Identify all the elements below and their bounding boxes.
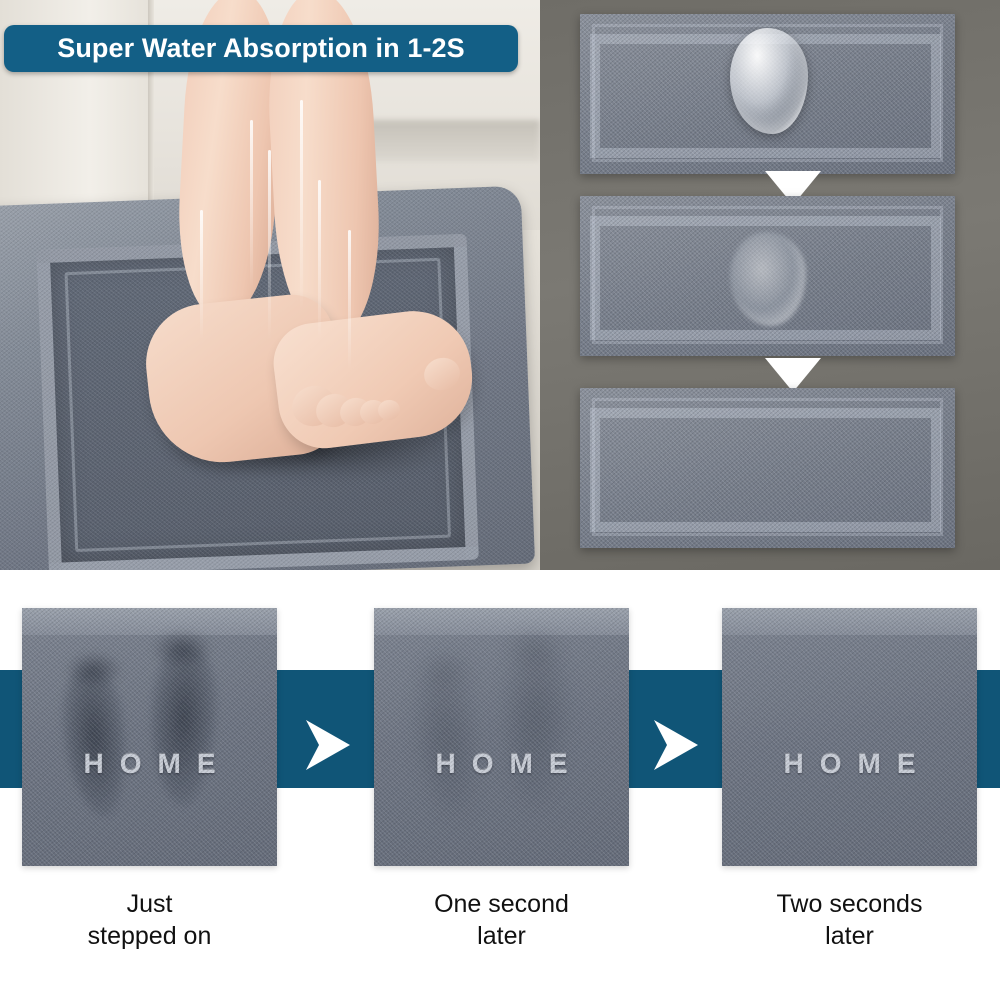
caption-3-line-1: Two seconds (722, 888, 977, 920)
mat-strip-inner-line (592, 398, 943, 536)
footprint-toes (66, 652, 122, 688)
mat-home-text: HOME (374, 748, 629, 780)
footprint-left (410, 666, 485, 821)
footprint-sequence-section: HOME HOME HOME Just stepped on One s (0, 570, 1000, 1000)
caption-3-line-2: later (722, 920, 977, 952)
footprint-panel-2: HOME (374, 608, 629, 866)
footprint-panel-3: HOME (722, 608, 977, 866)
footprint-toes (152, 630, 212, 668)
top-section: Super Water Absorption in 1-2S (0, 0, 1000, 570)
water-streak (268, 150, 271, 340)
water-streak (348, 230, 351, 370)
mat-strip-border (590, 408, 941, 532)
water-streak (318, 180, 321, 340)
caption-2-line-2: later (374, 920, 629, 952)
caption-1-line-1: Just (22, 888, 277, 920)
banner-title: Super Water Absorption in 1-2S (57, 33, 465, 64)
droplet-absorption-panel (540, 0, 1000, 570)
product-infographic: Super Water Absorption in 1-2S (0, 0, 1000, 1000)
water-streak (300, 100, 303, 310)
mat-home-text: HOME (722, 748, 977, 780)
title-banner: Super Water Absorption in 1-2S (4, 25, 518, 72)
right-arrow-notch (306, 720, 319, 770)
mat-home-text: HOME (22, 748, 277, 780)
caption-2-line-1: One second (374, 888, 629, 920)
footprint-left (58, 666, 133, 821)
left-photo-feet-on-mat: Super Water Absorption in 1-2S (0, 0, 540, 570)
mat-strip-step-3 (580, 388, 955, 548)
footprint-toes (418, 652, 474, 688)
caption-2: One second later (374, 888, 629, 952)
caption-3: Two seconds later (722, 888, 977, 952)
right-arrow-notch (654, 720, 667, 770)
down-arrow-icon (765, 358, 821, 392)
water-streak (250, 120, 253, 290)
caption-1: Just stepped on (22, 888, 277, 952)
mat-top-strip (374, 608, 629, 635)
caption-1-line-2: stepped on (22, 920, 277, 952)
mat-top-strip (722, 608, 977, 635)
footprint-right (146, 644, 220, 807)
footprint-right (498, 644, 572, 807)
water-streak (200, 210, 203, 340)
footprint-panel-1: HOME (22, 608, 277, 866)
footprint-toes (504, 630, 564, 668)
mat-top-strip (22, 608, 277, 635)
